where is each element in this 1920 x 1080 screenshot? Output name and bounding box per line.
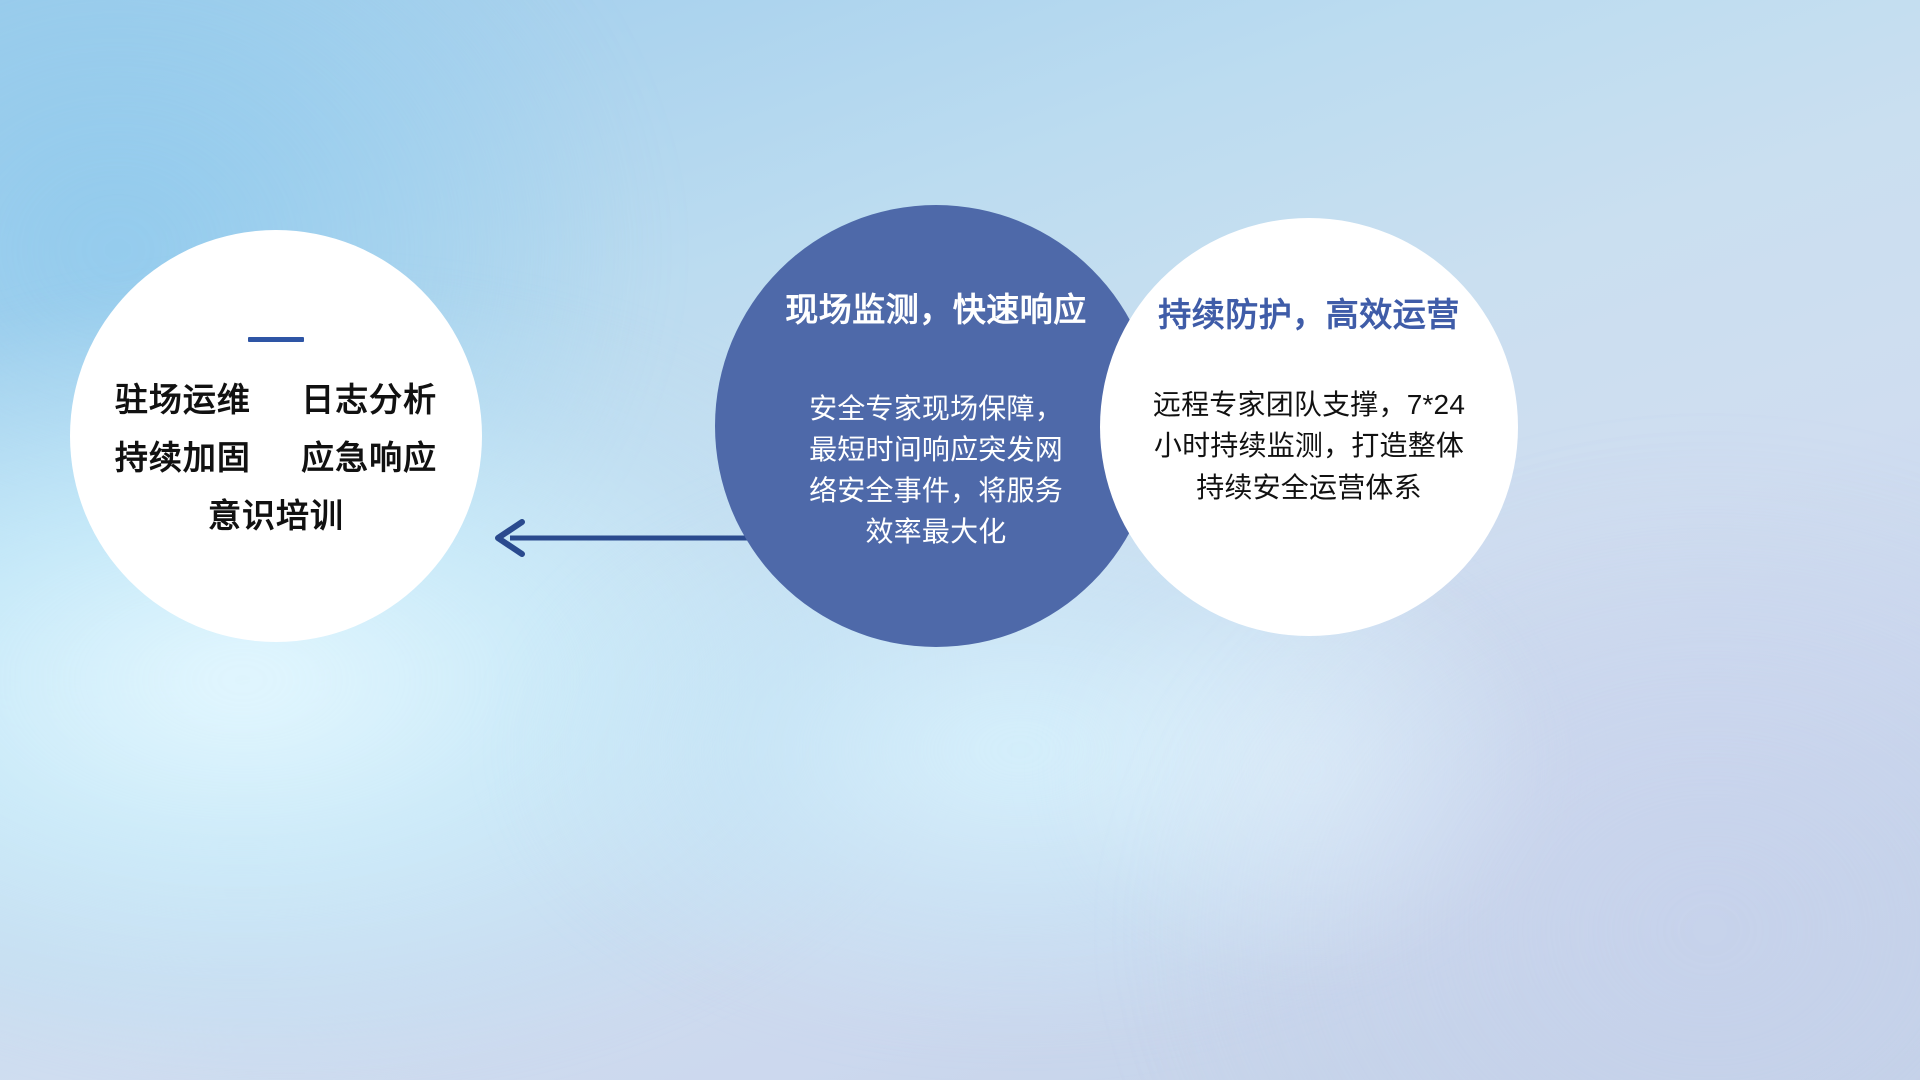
capability-label: 应急响应 — [301, 439, 437, 476]
list-item: 持续加固 应急响应 — [115, 440, 437, 477]
capability-label: 日志分析 — [301, 381, 437, 418]
list-item: 驻场运维 日志分析 — [115, 382, 437, 419]
onsite-monitoring-card[interactable]: 现场监测，快速响应 安全专家现场保障，最短时间响应突发网络安全事件，将服务效率最… — [715, 205, 1157, 647]
card-title: 持续防护，高效运营 — [1158, 288, 1460, 336]
list-item: 意识培训 — [208, 498, 344, 535]
capability-label: 意识培训 — [208, 497, 344, 534]
capability-list: 驻场运维 日志分析 持续加固 应急响应 意识培训 — [115, 382, 437, 535]
title-divider-icon — [248, 337, 304, 342]
slide-canvas: 驻场运维 日志分析 持续加固 应急响应 意识培训 现场监测，快速响应 安全专家现… — [0, 0, 1920, 1080]
capability-label: 驻场运维 — [115, 381, 251, 418]
continuous-protection-card[interactable]: 持续防护，高效运营 远程专家团队支撑，7*24小时持续监测，打造整体持续安全运营… — [1100, 218, 1518, 636]
capability-label: 持续加固 — [115, 439, 251, 476]
service-capability-card[interactable]: 驻场运维 日志分析 持续加固 应急响应 意识培训 — [70, 230, 482, 642]
card-body-text: 安全专家现场保障，最短时间响应突发网络安全事件，将服务效率最大化 — [800, 389, 1072, 553]
card-title: 现场监测，快速响应 — [785, 283, 1087, 331]
card-body-text: 远程专家团队支撑，7*24小时持续监测，打造整体持续安全运营体系 — [1144, 384, 1474, 508]
